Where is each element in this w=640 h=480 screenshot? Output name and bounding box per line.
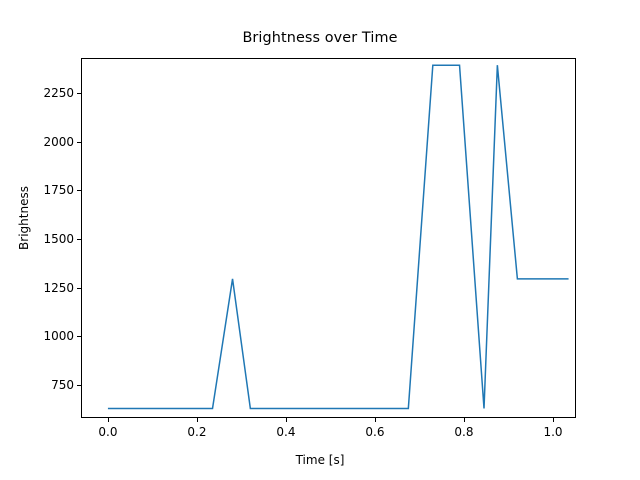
x-tick-label: 0.4 [276, 425, 295, 439]
x-tick-mark [197, 418, 198, 422]
x-axis-label: Time [s] [0, 453, 640, 467]
x-tick-mark [464, 418, 465, 422]
x-tick-label: 0.8 [454, 425, 473, 439]
matplotlib-figure: Brightness over Time 7501000125015001750… [0, 0, 640, 480]
brightness-series-line [108, 65, 569, 408]
x-tick-mark [108, 418, 109, 422]
data-line-plot [81, 58, 576, 418]
x-tick-mark [553, 418, 554, 422]
x-tick-label: 0.0 [98, 425, 117, 439]
x-tick-label: 1.0 [543, 425, 562, 439]
x-tick-mark [375, 418, 376, 422]
x-tick-mark [286, 418, 287, 422]
x-axis-tick-labels: 0.00.20.40.60.81.0 [0, 425, 640, 445]
x-tick-label: 0.2 [187, 425, 206, 439]
y-axis-label: Brightness [17, 158, 31, 278]
x-tick-label: 0.6 [365, 425, 384, 439]
